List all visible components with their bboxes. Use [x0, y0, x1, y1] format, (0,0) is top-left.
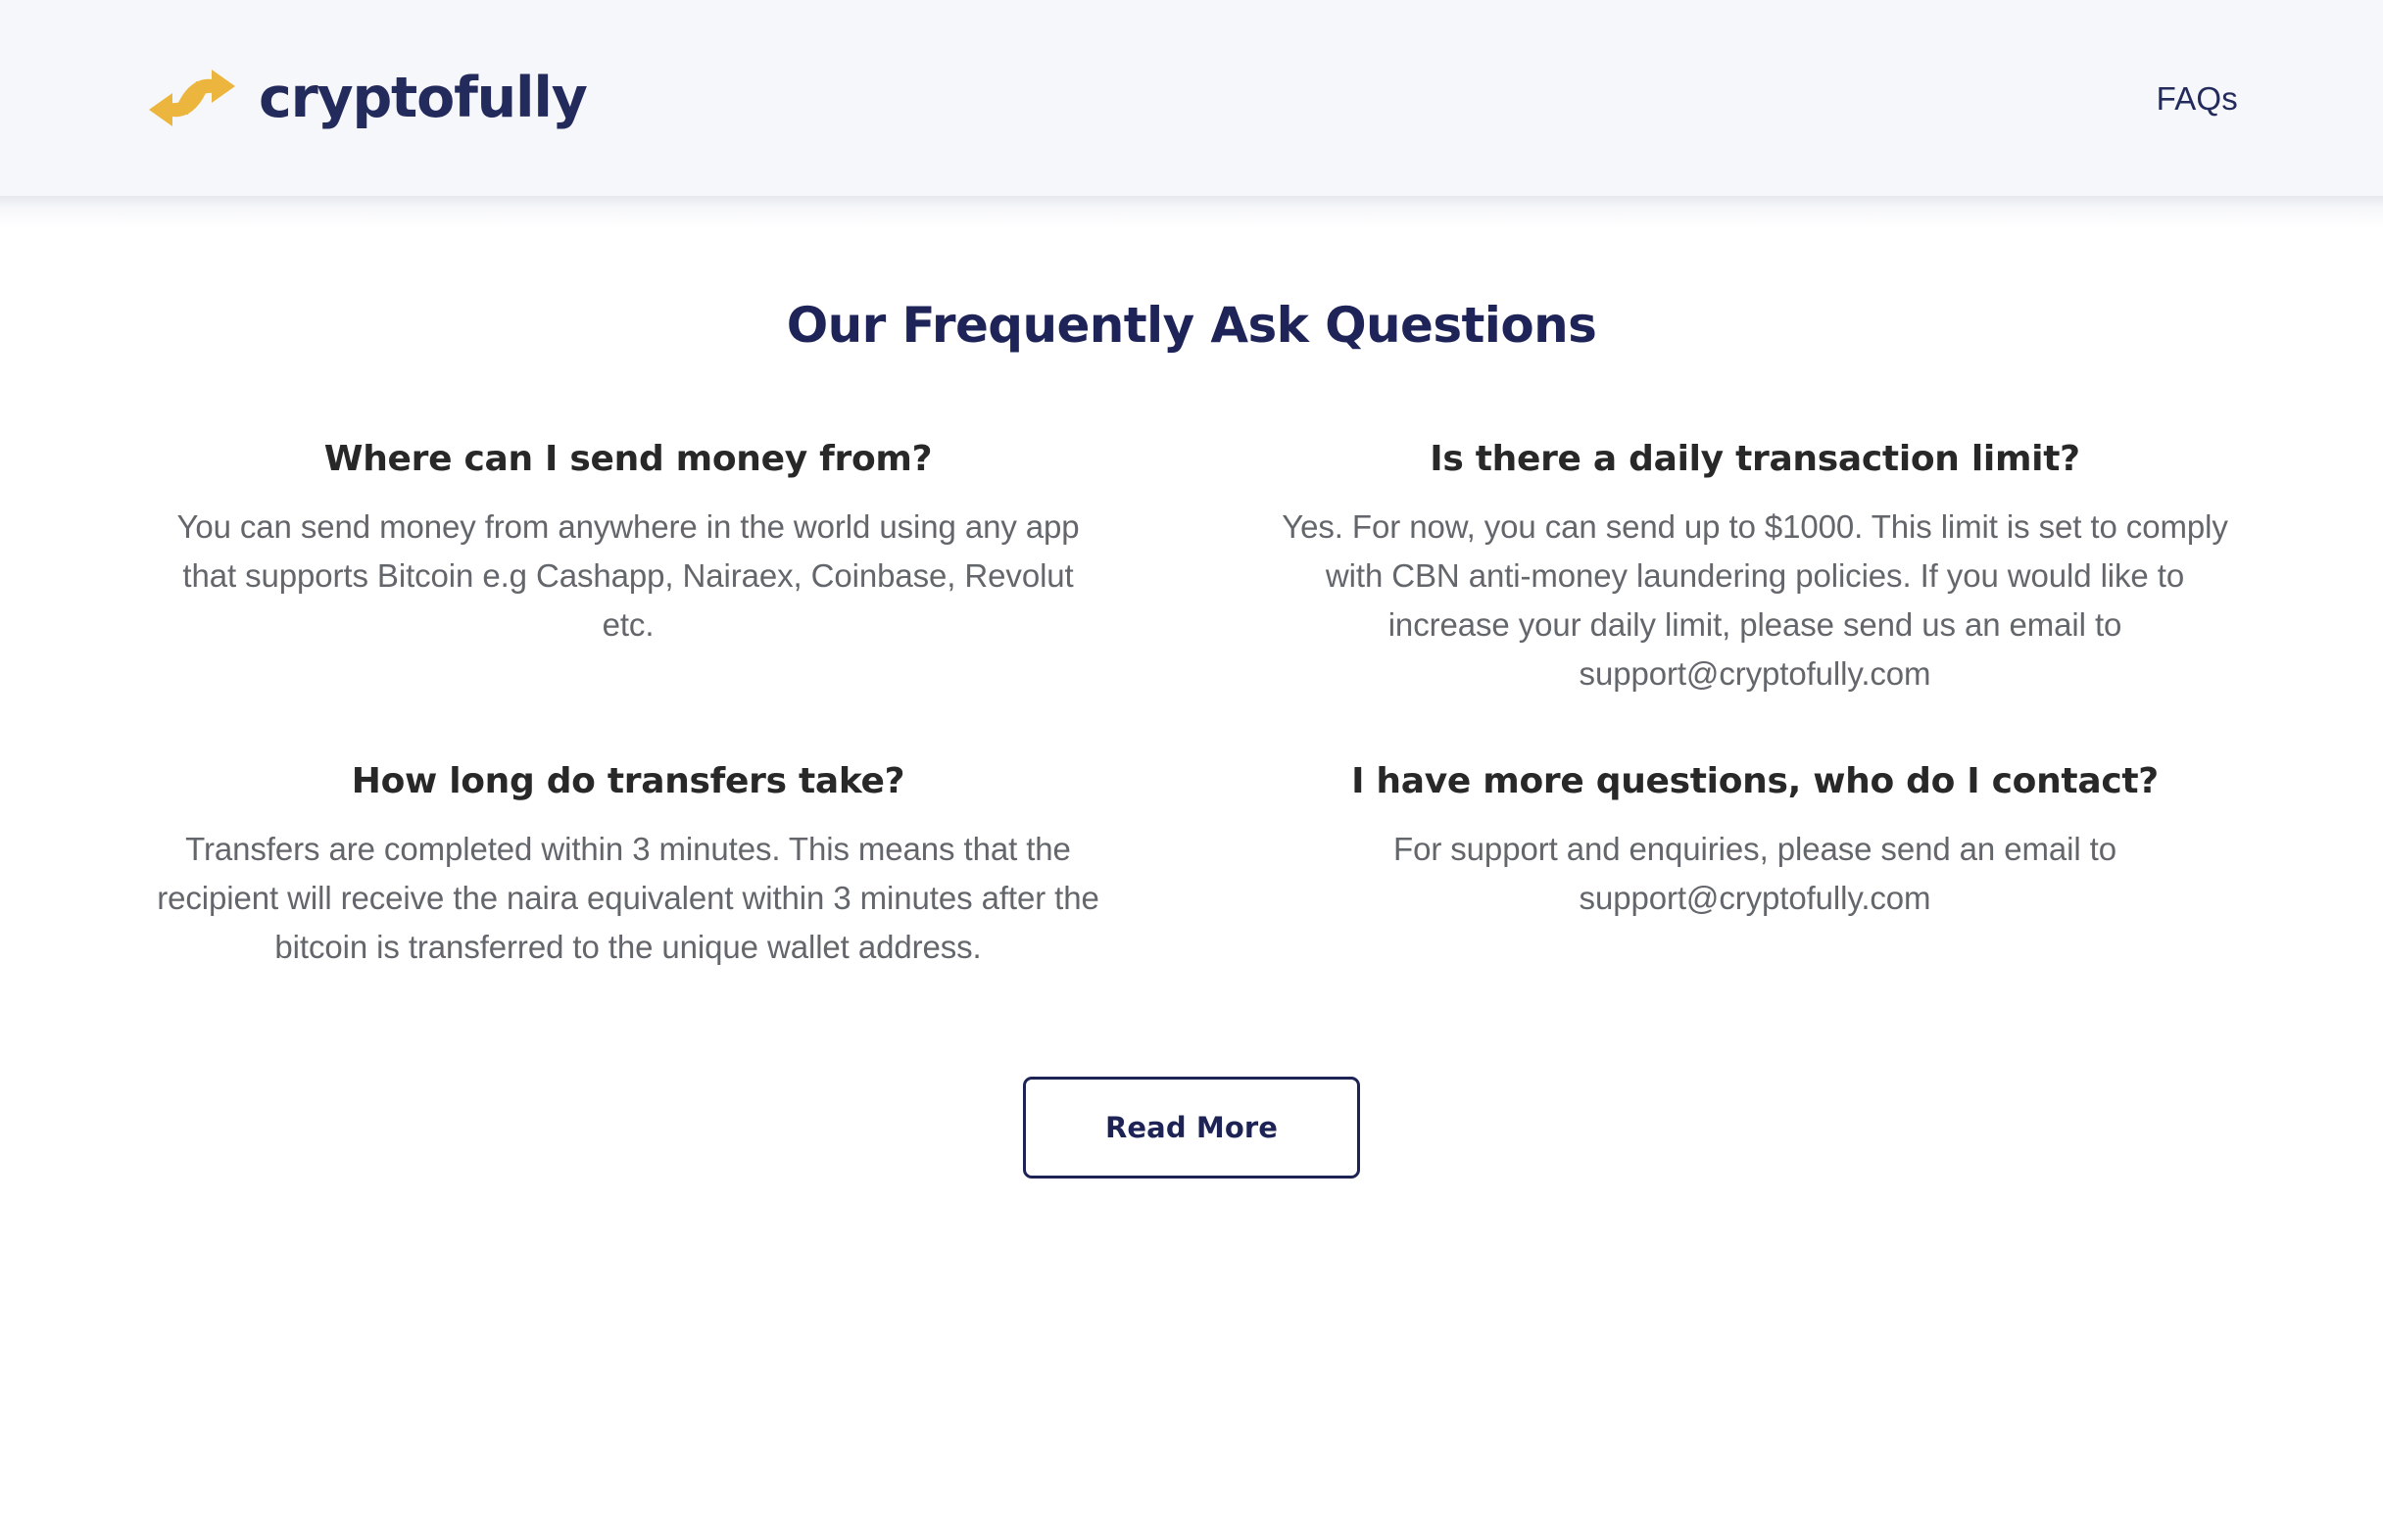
faq-question: I have more questions, who do I contact? [1282, 759, 2228, 803]
main-content: Our Frequently Ask Questions Where can I… [0, 196, 2383, 1179]
faq-question: Where can I send money from? [155, 437, 1101, 481]
faq-item: How long do transfers take? Transfers ar… [143, 759, 1113, 972]
faq-item: I have more questions, who do I contact?… [1270, 759, 2240, 972]
cta-container: Read More [0, 1077, 2383, 1179]
site-header: cryptofully FAQs [0, 0, 2383, 196]
faq-question: Is there a daily transaction limit? [1282, 437, 2228, 481]
faq-answer: Transfers are completed within 3 minutes… [155, 825, 1101, 972]
read-more-button[interactable]: Read More [1023, 1077, 1360, 1179]
brand-wordmark: cryptofully [259, 71, 587, 126]
faq-answer: You can send money from anywhere in the … [155, 503, 1101, 650]
faq-grid: Where can I send money from? You can sen… [143, 437, 2240, 973]
brand-logo[interactable]: cryptofully [145, 68, 587, 128]
faq-answer: For support and enquiries, please send a… [1282, 825, 2228, 923]
swap-arrows-icon [145, 68, 239, 128]
faq-question: How long do transfers take? [155, 759, 1101, 803]
page-title: Our Frequently Ask Questions [0, 298, 2383, 355]
primary-nav: FAQs [2157, 82, 2238, 115]
faq-item: Is there a daily transaction limit? Yes.… [1270, 437, 2240, 699]
faq-item: Where can I send money from? You can sen… [143, 437, 1113, 699]
nav-link-faqs[interactable]: FAQs [2157, 82, 2238, 115]
faq-answer: Yes. For now, you can send up to $1000. … [1282, 503, 2228, 699]
